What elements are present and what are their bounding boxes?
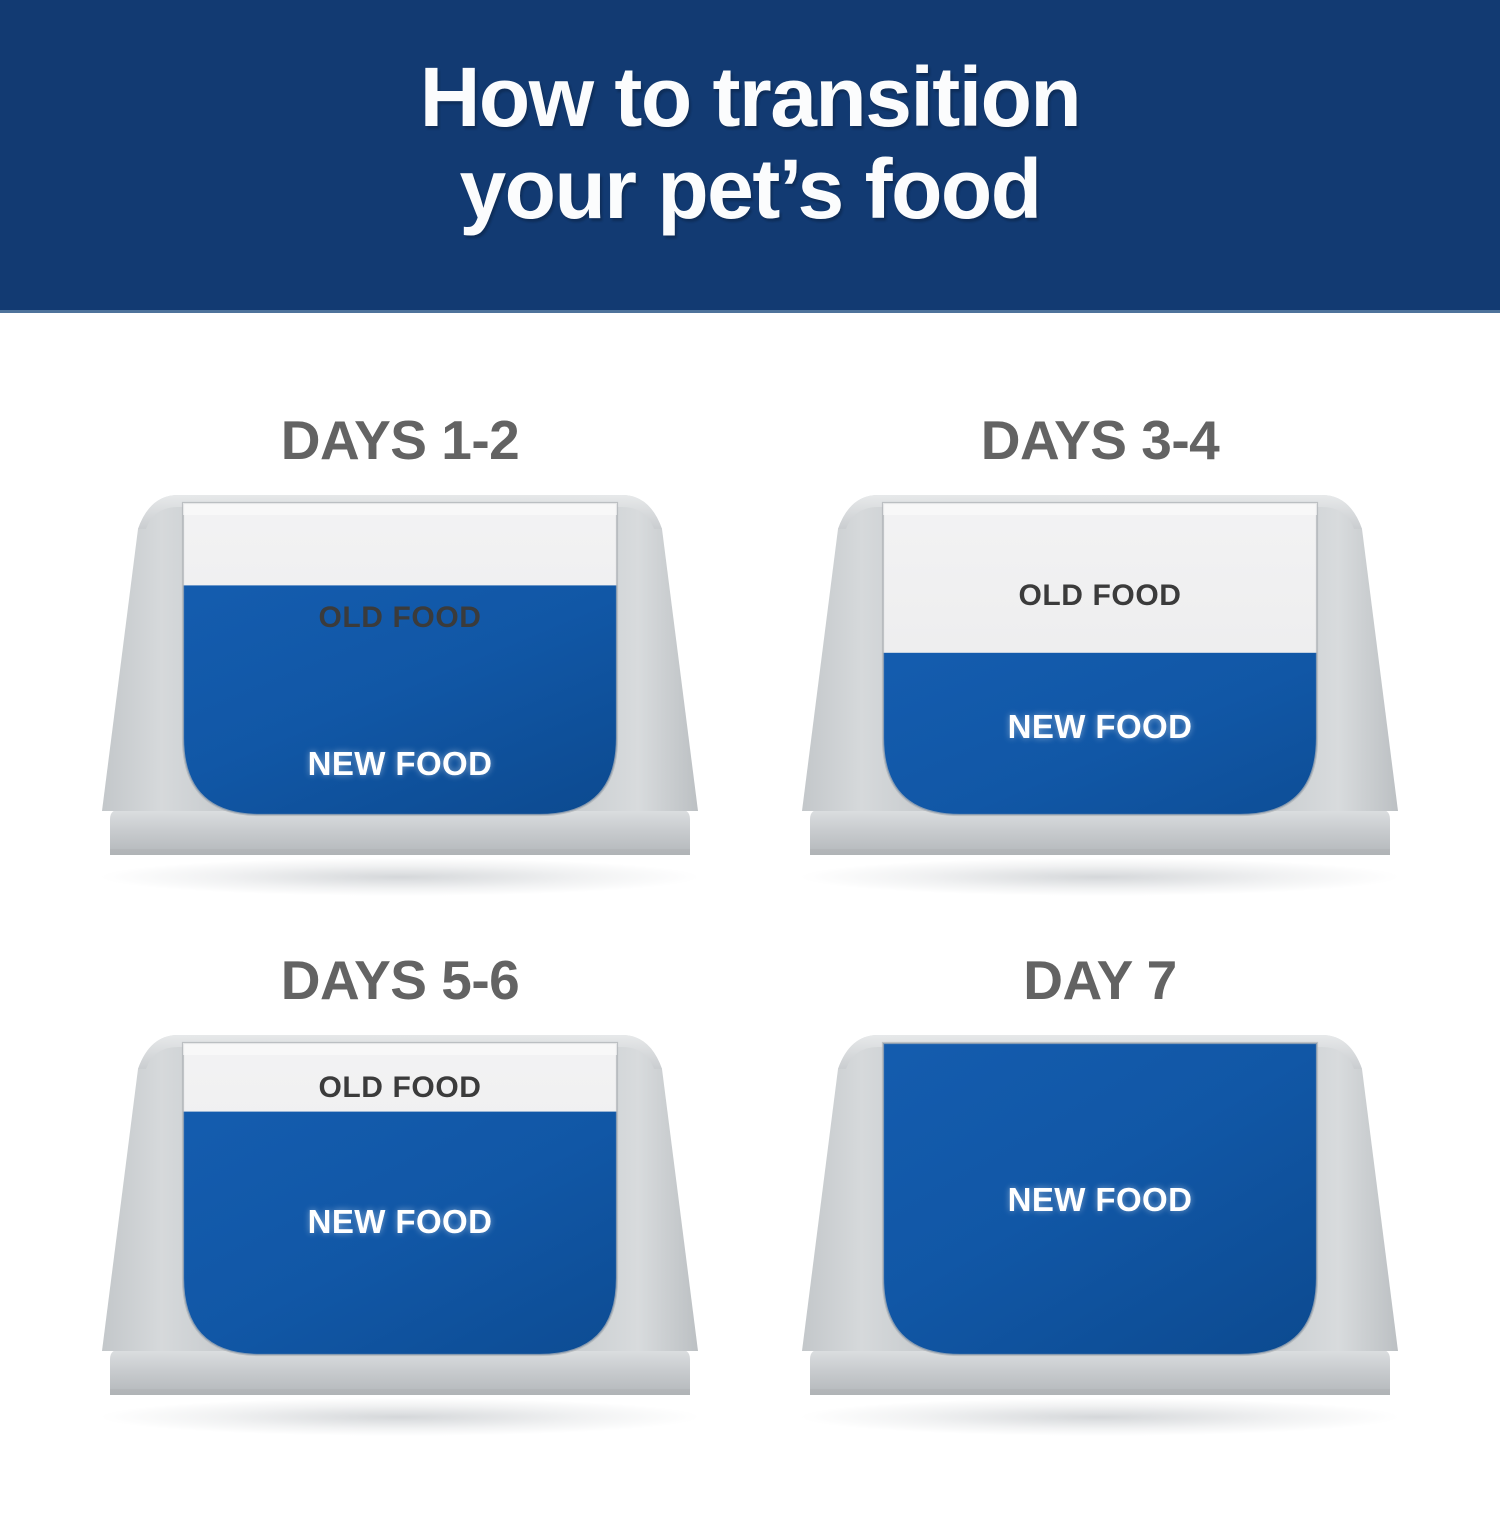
stage-label: DAYS 1-2 bbox=[50, 413, 750, 468]
stage-label: DAYS 5-6 bbox=[50, 953, 750, 1008]
new-food-fill bbox=[870, 653, 1330, 893]
bowl-day-7: NEW FOOD bbox=[750, 1025, 1450, 1445]
bowl-illustration bbox=[750, 485, 1450, 905]
page-title: How to transition your pet’s food bbox=[0, 52, 1500, 235]
stage-label: DAY 7 bbox=[750, 953, 1450, 1008]
bowl-illustration bbox=[50, 1025, 750, 1445]
stage-card-days-3-4: DAYS 3-4 bbox=[750, 413, 1450, 973]
stage-card-days-1-2: DAYS 1-2 bbox=[50, 413, 750, 973]
new-food-fill bbox=[870, 1033, 1330, 1373]
bowl-days-1-2: OLD FOOD NEW FOOD bbox=[50, 485, 750, 905]
page-header: How to transition your pet’s food bbox=[0, 0, 1500, 313]
stage-card-day-7: DAY 7 bbox=[750, 953, 1450, 1513]
bowl-days-5-6: OLD FOOD NEW FOOD bbox=[50, 1025, 750, 1445]
stage-card-days-5-6: DAYS 5-6 bbox=[50, 953, 750, 1513]
stages-grid: DAYS 1-2 bbox=[0, 313, 1500, 1500]
bowl-illustration bbox=[50, 485, 750, 905]
bowl-illustration bbox=[750, 1025, 1450, 1445]
bowl-days-3-4: OLD FOOD NEW FOOD bbox=[750, 485, 1450, 905]
new-food-fill bbox=[170, 585, 630, 825]
stage-label: DAYS 3-4 bbox=[750, 413, 1450, 468]
